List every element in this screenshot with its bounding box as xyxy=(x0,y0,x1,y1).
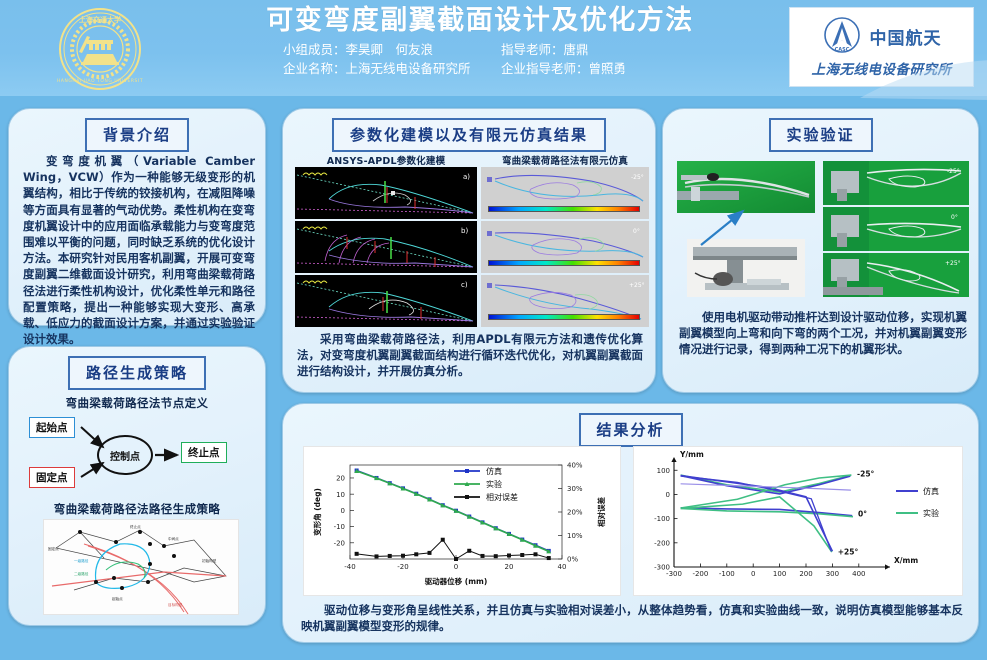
svg-text:0: 0 xyxy=(666,491,670,499)
node-fixed-point: 固定点 xyxy=(29,467,75,488)
casc-logo-top: CASC 中国航天 xyxy=(822,16,942,56)
colorbar-0 xyxy=(488,260,640,266)
casc-emblem-icon: CASC xyxy=(822,16,862,56)
path-caption-node-definition: 弯曲梁载荷路径法节点定义 xyxy=(9,395,265,411)
colorbar-minus25 xyxy=(488,206,640,212)
svg-text:相对误差: 相对误差 xyxy=(596,497,606,527)
panel-path-strategy: 路径生成策略 弯曲梁载荷路径法节点定义 起始点 固定点 控制点 终止点 弯曲梁载… xyxy=(8,346,266,626)
svg-text:+25°: +25° xyxy=(629,282,645,289)
path-caption-generation-strategy: 弯曲梁载荷路径法路径生成策略 xyxy=(9,501,265,517)
section-title-background: 背景介绍 xyxy=(85,118,189,152)
advisor-label: 指导老师：唐鼎 xyxy=(501,40,713,59)
svg-text:0: 0 xyxy=(751,570,755,578)
path-generation-diagram: 固定点 一级路径 二级路径 终止点 中间点 起始点 初始构型 目标构型 xyxy=(43,519,239,615)
svg-text:40%: 40% xyxy=(567,462,583,470)
panel-parametric-modeling: 参数化建模以及有限元仿真结果 ANSYS-APDL参数化建模 弯曲梁载荷路径法有… xyxy=(282,108,656,393)
ansys-model-b: b) xyxy=(295,221,477,273)
svg-text:+25°: +25° xyxy=(945,260,961,267)
node-definition-diagram: 起始点 固定点 控制点 终止点 xyxy=(23,413,253,497)
node-end-point: 终止点 xyxy=(181,442,227,463)
members-label: 小组成员：李昊卿 何友浪 xyxy=(283,40,501,59)
company-advisor-label: 企业指导老师：曾照勇 xyxy=(501,59,713,78)
label-middle-point: 中间点 xyxy=(168,536,179,541)
ansys-model-a: a) xyxy=(295,167,477,219)
fem-result-minus25: -25° xyxy=(481,167,649,219)
svg-text:+25°: +25° xyxy=(838,547,859,556)
svg-text:0%: 0% xyxy=(567,556,578,564)
svg-text:X/mm: X/mm xyxy=(894,556,918,565)
svg-text:0: 0 xyxy=(454,563,458,571)
background-body-text: 变弯度机翼（Variable Camber Wing，VCW）作为一种能够无级变… xyxy=(23,153,255,347)
photo-wing-model-closeup xyxy=(677,161,815,213)
section-title-experiment: 实验验证 xyxy=(768,118,872,152)
svg-text:10: 10 xyxy=(336,491,345,499)
model-body-text: 采用弯曲梁载荷路径法，利用APDL有限元方法和遗传优化算法，对变弯度机翼副翼截面… xyxy=(297,331,643,380)
svg-text:上海交通大学: 上海交通大学 xyxy=(79,15,121,24)
svg-text:b): b) xyxy=(461,227,468,235)
caption-fem-simulation: 弯曲梁载荷路径法有限元仿真 xyxy=(481,153,649,167)
photo-deflection-0: 0° xyxy=(823,207,969,251)
svg-text:300: 300 xyxy=(826,570,839,578)
svg-text:c): c) xyxy=(461,281,468,289)
svg-text:变形角 (deg): 变形角 (deg) xyxy=(312,488,322,536)
experiment-body-text: 使用电机驱动带动推杆达到设计驱动位移，实现机翼副翼模型向上弯和向下弯的两个工况，… xyxy=(679,309,967,358)
svg-text:相对误差: 相对误差 xyxy=(486,492,518,502)
svg-text:-25°: -25° xyxy=(857,470,875,479)
svg-text:驱动器位移 (mm): 驱动器位移 (mm) xyxy=(425,576,488,586)
svg-text:Y/mm: Y/mm xyxy=(679,450,704,459)
svg-text:实验: 实验 xyxy=(486,479,502,489)
poster-root: 上海交通大学 SHANGHAI JIAO TONG UNIVERSITY 可变弯… xyxy=(0,0,987,660)
fem-simulation-stack: -25° 0° xyxy=(481,167,649,327)
svg-text:仿真: 仿真 xyxy=(486,466,502,476)
panel-experiment-verification: 实验验证 xyxy=(662,108,979,393)
svg-text:-300: -300 xyxy=(654,564,670,572)
meta-row-members: 小组成员：李昊卿 何友浪 指导老师：唐鼎 xyxy=(283,40,713,59)
svg-text:10%: 10% xyxy=(567,532,583,540)
svg-text:-10: -10 xyxy=(334,523,345,531)
label-fixed-point: 固定点 xyxy=(48,546,59,551)
svg-text:20%: 20% xyxy=(567,509,583,517)
colorbar-plus25 xyxy=(488,314,640,320)
ansys-model-stack: a) xyxy=(295,167,477,327)
svg-text:20: 20 xyxy=(336,475,345,483)
svg-text:0°: 0° xyxy=(858,510,867,519)
svg-text:30%: 30% xyxy=(567,485,583,493)
label-start-point: 起始点 xyxy=(112,596,123,601)
label-end-point: 终止点 xyxy=(130,524,141,529)
casc-cn-text: 中国航天 xyxy=(870,24,942,49)
section-title-path: 路径生成策略 xyxy=(68,356,206,390)
experiment-photo-grid: -25° 0° xyxy=(823,161,969,297)
meta-row-company: 企业名称：上海无线电设备研究所 企业指导老师：曾照勇 xyxy=(283,59,713,78)
svg-text:-20: -20 xyxy=(397,563,408,571)
label-target-shape: 目标构型 xyxy=(168,602,183,607)
chart-deflection-vs-displacement: -40-2002040-20-10010200%10%20%30%40%驱动器位… xyxy=(303,446,621,596)
svg-text:实验: 实验 xyxy=(923,508,939,518)
ansys-model-c: c) xyxy=(295,275,477,327)
svg-text:40: 40 xyxy=(558,563,567,571)
label-initial-shape: 初始构型 xyxy=(202,558,217,563)
chart-airfoil-shape-comparison: -300-200-1000100200300400-200-1000100-30… xyxy=(633,446,963,596)
shanghai-jiao-tong-university-logo: 上海交通大学 SHANGHAI JIAO TONG UNIVERSITY xyxy=(57,6,143,92)
label-secondary-path: 二级路径 xyxy=(74,571,89,576)
svg-text:-200: -200 xyxy=(692,570,708,578)
section-title-model: 参数化建模以及有限元仿真结果 xyxy=(332,118,606,152)
svg-text:0°: 0° xyxy=(951,214,958,221)
svg-text:100: 100 xyxy=(657,467,670,475)
casc-institute-logo: CASC 中国航天 上海无线电设备研究所 xyxy=(789,7,974,87)
result-body-text: 驱动位移与变形角呈线性关系，并且仿真与实验相对误差小，从整体趋势看，仿真和实验曲… xyxy=(301,602,963,634)
svg-text:SHANGHAI JIAO TONG UNIVERSITY: SHANGHAI JIAO TONG UNIVERSITY xyxy=(57,78,143,84)
section-title-result: 结果分析 xyxy=(578,413,682,447)
svg-text:a): a) xyxy=(463,173,470,181)
panel-result-analysis: 结果分析 -40-2002040-20-10010200%10%20%30%40… xyxy=(282,403,979,643)
svg-text:-40: -40 xyxy=(344,563,355,571)
poster-header: 上海交通大学 SHANGHAI JIAO TONG UNIVERSITY 可变弯… xyxy=(0,0,987,96)
svg-text:-25°: -25° xyxy=(631,174,644,181)
svg-text:-25°: -25° xyxy=(947,168,960,175)
svg-text:100: 100 xyxy=(773,570,786,578)
svg-text:CASC: CASC xyxy=(834,47,849,53)
node-start-point: 起始点 xyxy=(29,417,75,438)
svg-text:0: 0 xyxy=(341,507,345,515)
caption-ansys-apdl: ANSYS-APDL参数化建模 xyxy=(295,153,477,167)
company-label: 企业名称：上海无线电设备研究所 xyxy=(283,59,501,78)
svg-text:200: 200 xyxy=(799,570,812,578)
svg-text:-200: -200 xyxy=(654,539,670,547)
svg-text:400: 400 xyxy=(852,570,865,578)
panel-background-intro: 背景介绍 变弯度机翼（Variable Camber Wing，VCW）作为一种… xyxy=(8,108,266,326)
photo-deflection-plus25: +25° xyxy=(823,253,969,297)
svg-text:-20: -20 xyxy=(334,539,345,547)
label-primary-path: 一级路径 xyxy=(74,558,89,563)
svg-text:-100: -100 xyxy=(719,570,735,578)
page-title: 可变弯度副翼截面设计及优化方法 xyxy=(180,4,780,38)
fem-result-0: 0° xyxy=(481,221,649,273)
casc-institute-text: 上海无线电设备研究所 xyxy=(812,58,952,78)
photo-deflection-minus25: -25° xyxy=(823,161,969,205)
node-control-point: 控制点 xyxy=(97,435,153,475)
svg-text:20: 20 xyxy=(505,563,514,571)
svg-text:0°: 0° xyxy=(633,228,640,235)
fem-result-plus25: +25° xyxy=(481,275,649,327)
svg-text:仿真: 仿真 xyxy=(923,486,939,496)
poster-meta: 小组成员：李昊卿 何友浪 指导老师：唐鼎 企业名称：上海无线电设备研究所 企业指… xyxy=(283,40,713,78)
photo-actuator-rig xyxy=(687,239,805,297)
svg-text:-100: -100 xyxy=(654,515,670,523)
